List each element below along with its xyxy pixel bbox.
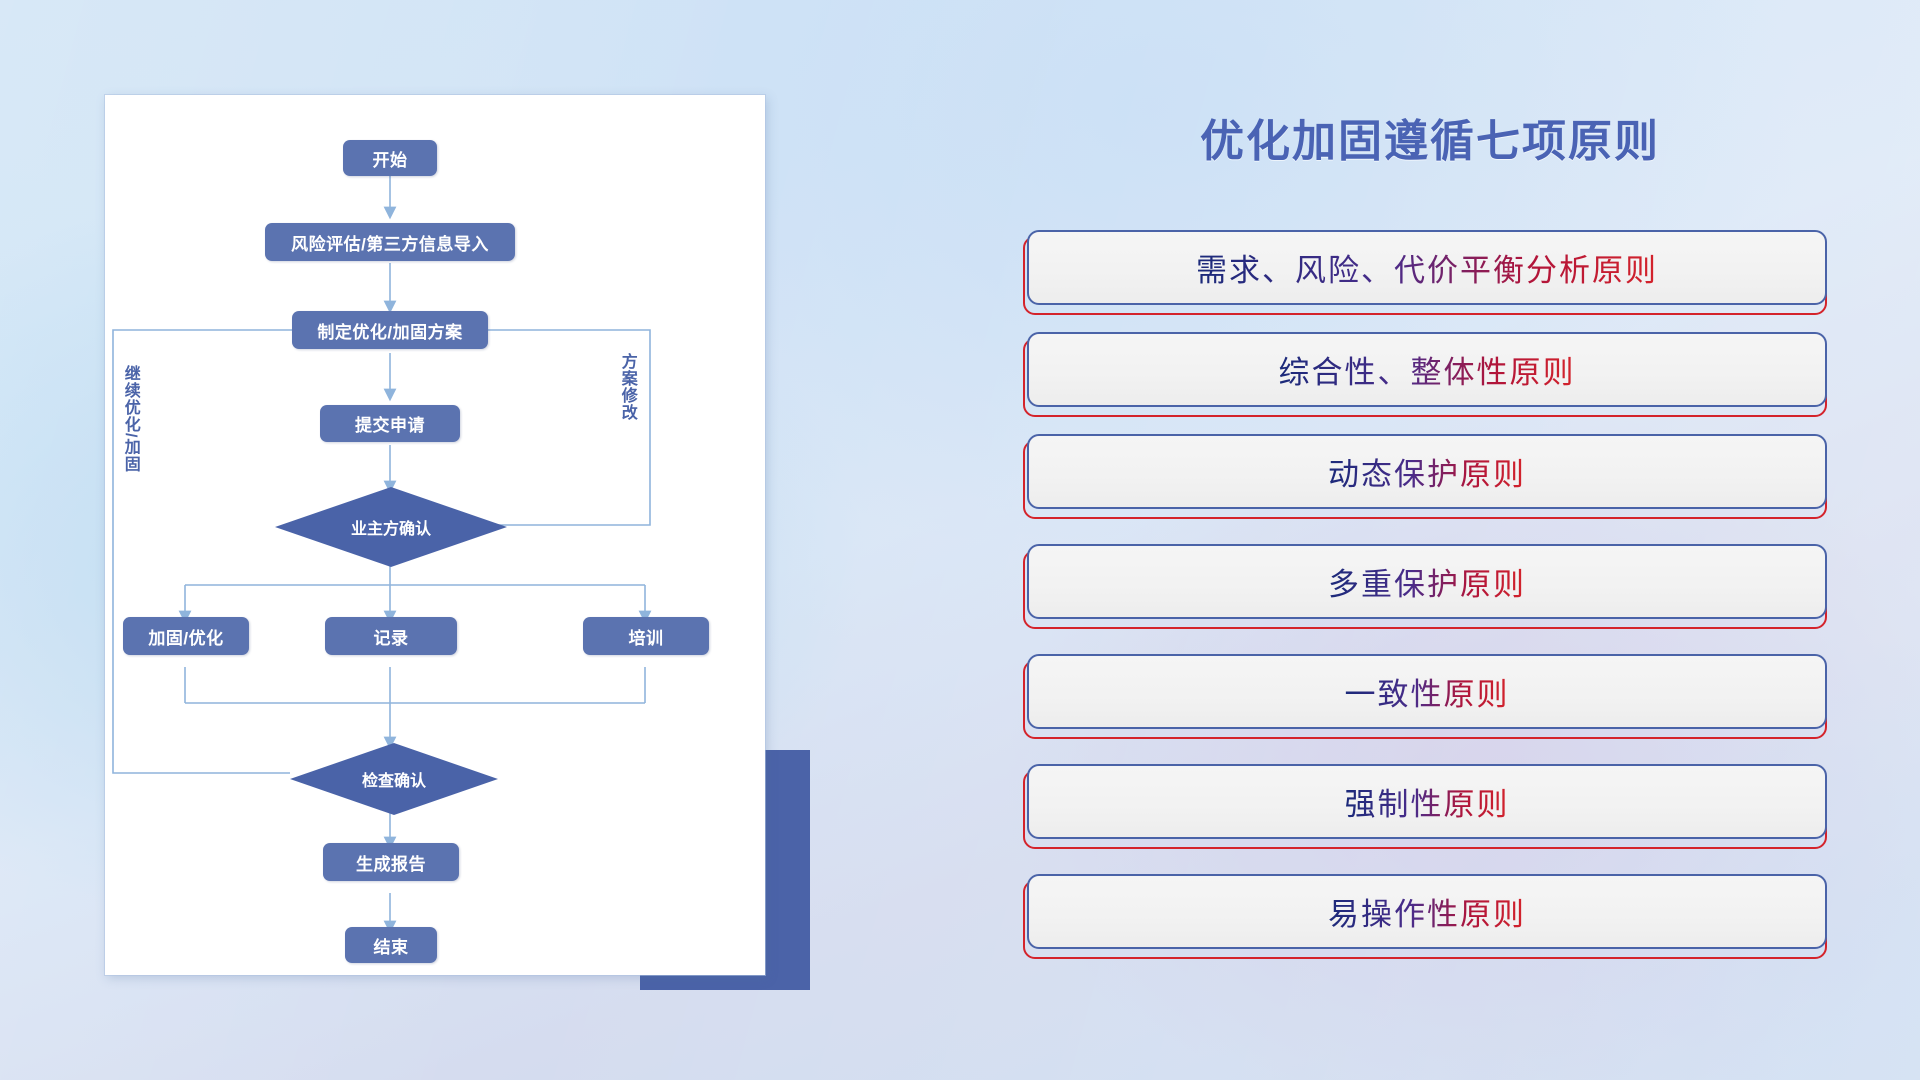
flowchart-card: 开始 风险评估/第三方信息导入 制定优化/加固方案 提交申请 业主方确认 加固/… [105, 95, 765, 975]
flow-node-record[interactable]: 记录 [325, 617, 457, 655]
principle-box[interactable]: 需求、风险、代价平衡分析原则 [1027, 230, 1827, 305]
flow-node-risk-assessment[interactable]: 风险评估/第三方信息导入 [265, 223, 515, 261]
principle-box[interactable]: 一致性原则 [1027, 654, 1827, 729]
principle-label: 多重保护原则 [1328, 559, 1526, 604]
principle-label: 强制性原则 [1345, 779, 1510, 824]
flow-node-label: 培训 [629, 624, 664, 649]
principles-panel: 优化加固遵循七项原则 需求、风险、代价平衡分析原则 综合性、整体性原则 动态保护… [1000, 60, 1860, 1020]
principle-box[interactable]: 多重保护原则 [1027, 544, 1827, 619]
principle-item[interactable]: 多重保护原则 [1025, 544, 1825, 619]
principle-item[interactable]: 综合性、整体性原则 [1025, 332, 1825, 407]
flow-node-label: 提交申请 [355, 411, 425, 436]
flow-decision-label: 检查确认 [362, 767, 426, 791]
flow-node-label: 开始 [373, 146, 408, 171]
flow-node-label: 加固/优化 [148, 624, 223, 649]
flow-node-label: 生成报告 [356, 850, 426, 875]
principle-item[interactable]: 易操作性原则 [1025, 874, 1825, 949]
principle-box[interactable]: 强制性原则 [1027, 764, 1827, 839]
flow-node-label: 风险评估/第三方信息导入 [291, 230, 489, 255]
principle-item[interactable]: 动态保护原则 [1025, 434, 1825, 509]
flow-node-end[interactable]: 结束 [345, 927, 437, 963]
flow-decision-label: 业主方确认 [351, 515, 431, 539]
principle-item[interactable]: 强制性原则 [1025, 764, 1825, 839]
principle-label: 一致性原则 [1345, 669, 1510, 714]
principle-label: 综合性、整体性原则 [1279, 347, 1576, 392]
principle-label: 需求、风险、代价平衡分析原则 [1196, 245, 1658, 290]
flow-node-label: 记录 [374, 624, 409, 649]
panel-title: 优化加固遵循七项原则 [1000, 105, 1860, 169]
principle-box[interactable]: 动态保护原则 [1027, 434, 1827, 509]
flow-node-start[interactable]: 开始 [343, 140, 437, 176]
principle-label: 易操作性原则 [1328, 889, 1526, 934]
principle-box[interactable]: 易操作性原则 [1027, 874, 1827, 949]
principle-label: 动态保护原则 [1328, 449, 1526, 494]
flow-node-report[interactable]: 生成报告 [323, 843, 459, 881]
flow-node-label: 结束 [374, 933, 409, 958]
flow-label-plan-revision: 方案修改 [618, 353, 635, 473]
flow-node-reinforce[interactable]: 加固/优化 [123, 617, 249, 655]
flow-node-plan[interactable]: 制定优化/加固方案 [292, 311, 488, 349]
flow-node-label: 制定优化/加固方案 [317, 318, 462, 343]
flow-label-continue-optimize: 继续优化/加固 [121, 365, 138, 525]
flow-node-submit[interactable]: 提交申请 [320, 405, 460, 442]
flow-node-training[interactable]: 培训 [583, 617, 709, 655]
principle-box[interactable]: 综合性、整体性原则 [1027, 332, 1827, 407]
principle-item[interactable]: 一致性原则 [1025, 654, 1825, 729]
principle-item[interactable]: 需求、风险、代价平衡分析原则 [1025, 230, 1825, 305]
